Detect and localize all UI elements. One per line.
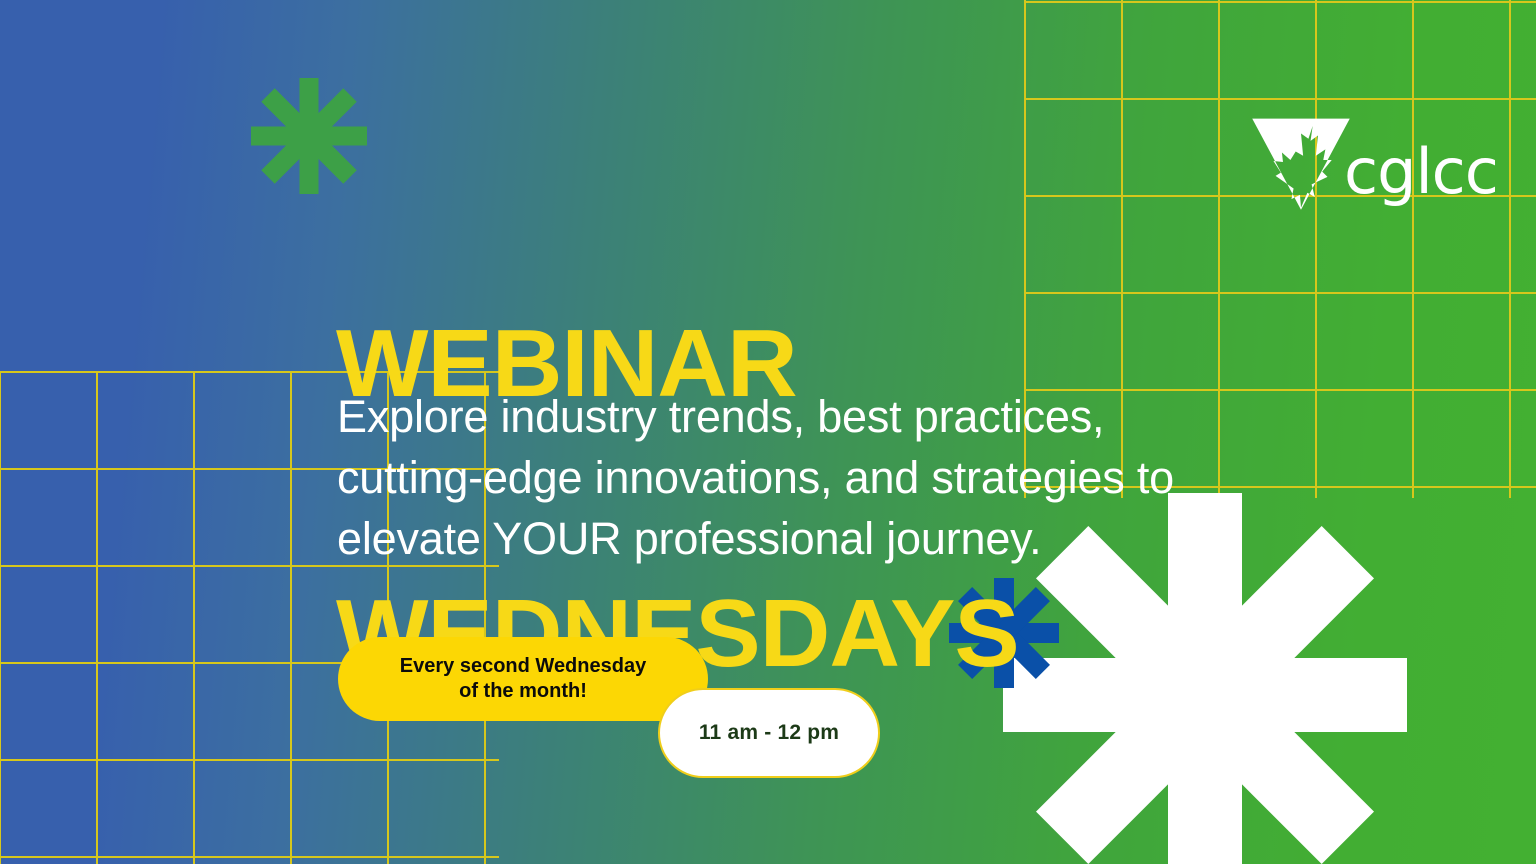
maple-leaf-triangle-icon <box>1248 108 1354 214</box>
description-text: Explore industry trends, best practices,… <box>337 387 1237 569</box>
cglcc-logo: cglcc <box>1248 108 1498 214</box>
time-badge: 11 am - 12 pm <box>658 688 880 778</box>
frequency-badge-line-1: Every second Wednesday <box>400 654 646 679</box>
time-badge-label: 11 am - 12 pm <box>699 721 839 745</box>
webinar-promo-poster: WEBINAR WEDNESDAYS Explore industry tren… <box>0 0 1536 864</box>
frequency-badge-line-2: of the month! <box>400 679 646 704</box>
frequency-badge: Every second Wednesday of the month! <box>338 637 708 721</box>
cglcc-wordmark: cglcc <box>1344 141 1498 203</box>
